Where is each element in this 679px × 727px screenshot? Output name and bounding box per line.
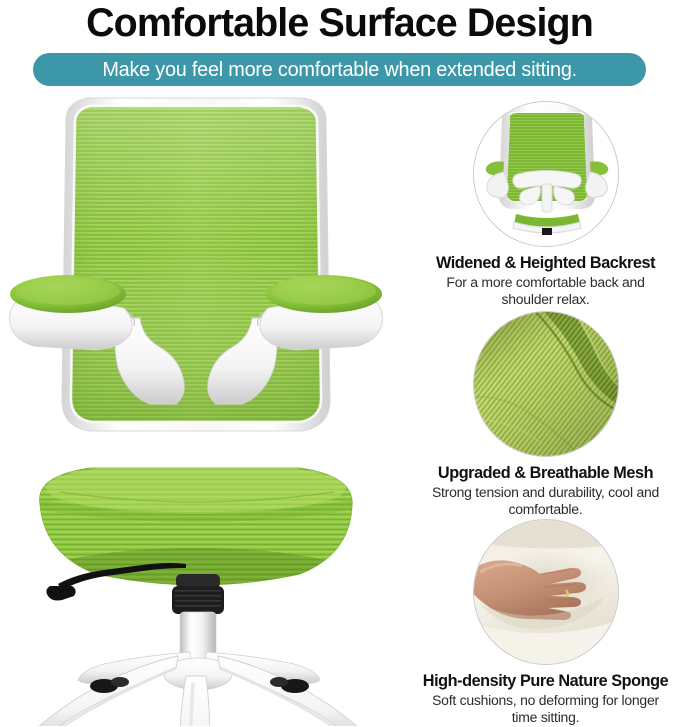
mesh-fabric-closeup-photo (473, 311, 619, 457)
feature-item-mesh: Upgraded & Breathable Mesh Strong tensio… (412, 308, 679, 519)
feature-desc-backrest: For a more comfortable back and shoulder… (414, 275, 677, 309)
feature-image-wrap-backrest (412, 98, 679, 250)
hand-pressing-foam-photo (473, 519, 619, 665)
header-section: Comfortable Surface Design Make you feel… (0, 0, 679, 96)
feature-list: Widened & Heighted Backrest For a more c… (412, 98, 679, 726)
subtitle-text: Make you feel more comfortable when exte… (102, 59, 577, 81)
feature-title-backrest: Widened & Heighted Backrest (414, 253, 677, 273)
feature-image-wrap-mesh (412, 308, 679, 460)
feature-image-wrap-sponge (412, 516, 679, 668)
subtitle-banner: Make you feel more comfortable when exte… (33, 53, 646, 86)
feature-item-sponge: High-density Pure Nature Sponge Soft cus… (412, 516, 679, 727)
feature-item-backrest: Widened & Heighted Backrest For a more c… (412, 98, 679, 309)
backrest-group (60, 96, 335, 436)
feature-desc-sponge: Soft cushions, no deforming for longer t… (414, 693, 677, 727)
page-title: Comfortable Surface Design (5, 0, 674, 46)
chair-rear-view-photo (473, 101, 619, 247)
five-star-base (25, 652, 370, 726)
product-hero-image (0, 96, 412, 726)
base-leg-front (180, 676, 210, 726)
office-chair-illustration (0, 96, 412, 726)
backrest-mesh (60, 96, 335, 436)
feature-title-mesh: Upgraded & Breathable Mesh (414, 463, 677, 483)
feature-title-sponge: High-density Pure Nature Sponge (414, 671, 677, 691)
feature-desc-mesh: Strong tension and durability, cool and … (414, 485, 677, 519)
